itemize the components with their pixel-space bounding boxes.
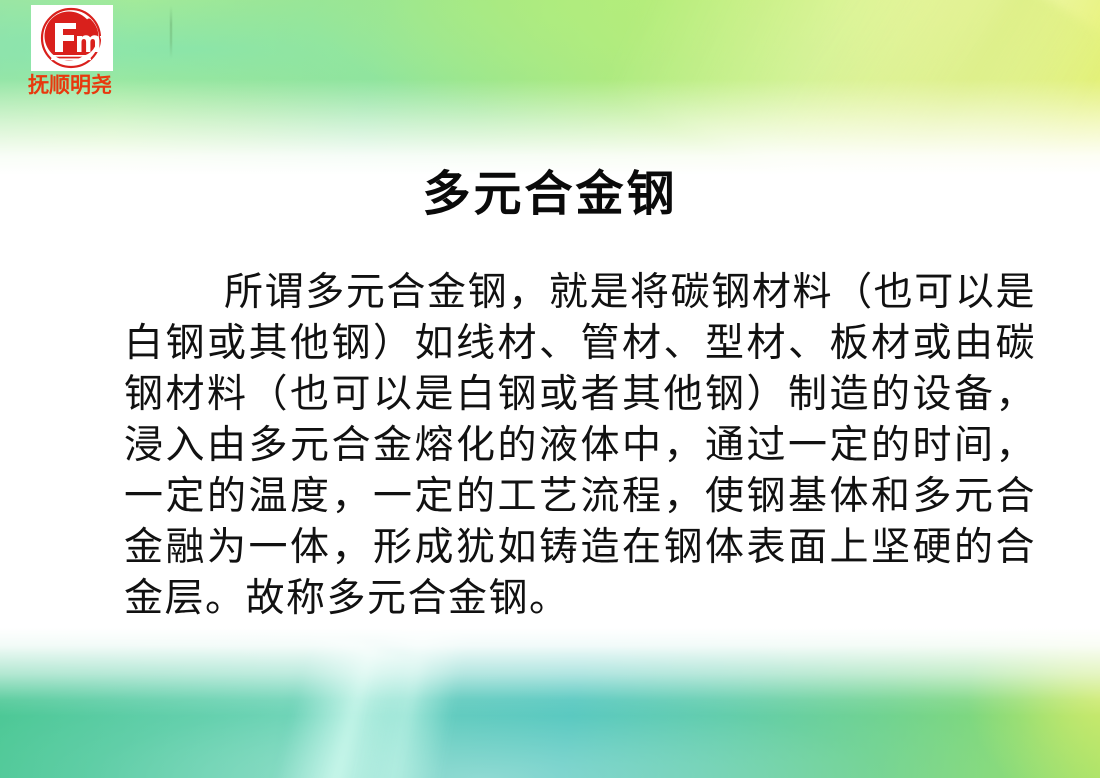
slide-title: 多元合金钢 <box>0 168 1100 221</box>
brand-logo[interactable]: 抚顺明尧 <box>28 5 146 96</box>
slide-body-paragraph: 所谓多元合金钢，就是将碳钢材料（也可以是白钢或其他钢）如线材、管材、型材、板材或… <box>124 267 1036 624</box>
brand-logo-caption: 抚顺明尧 <box>28 75 146 96</box>
slide-canvas: 抚顺明尧 多元合金钢 所谓多元合金钢，就是将碳钢材料（也可以是白钢或其他钢）如线… <box>0 0 1100 778</box>
slide-content: 多元合金钢 所谓多元合金钢，就是将碳钢材料（也可以是白钢或其他钢）如线材、管材、… <box>0 0 1100 778</box>
fmy-circle-logo-icon <box>31 5 113 71</box>
